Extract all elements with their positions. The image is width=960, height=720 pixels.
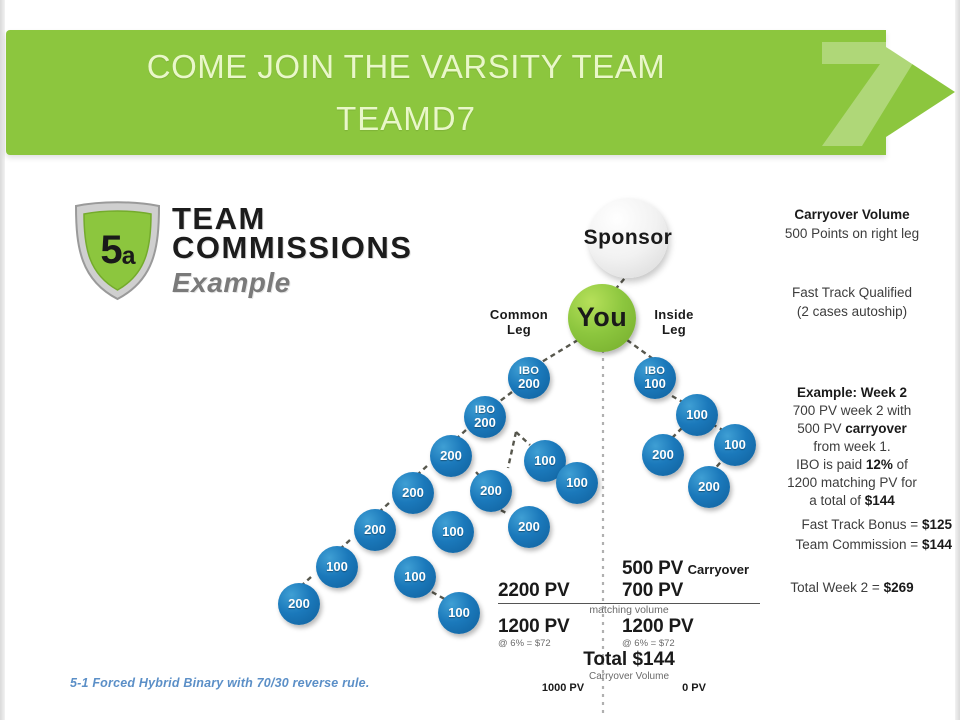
- pv-carryover-top-row: 500 PV Carryover: [498, 558, 768, 580]
- left-edge-gutter: [0, 0, 5, 720]
- pv-summary: 500 PV Carryover 2200 PV 700 PV matching…: [498, 558, 768, 694]
- badge-digit: 5: [100, 228, 121, 273]
- banner-title-line2: TEAMD7: [336, 93, 476, 144]
- example-line-4: IBO is paid 12% of: [752, 456, 952, 474]
- bonus-breakdown: Fast Track Bonus = $125 Team Commission …: [740, 515, 952, 556]
- total-week-label: Total Week 2 =: [790, 580, 883, 595]
- title-line-team: TEAM: [172, 204, 532, 233]
- pv-carryover-volume-label: Carryover Volume: [498, 671, 760, 682]
- node-common-1-value: 200: [518, 377, 540, 390]
- pv-inside-rate: @ 6% = $72: [610, 638, 760, 649]
- fast-track-line1: Fast Track Qualified: [752, 283, 952, 302]
- example-line-6: a total of $144: [752, 492, 952, 510]
- pv-totals-row: 2200 PV 700 PV: [498, 580, 768, 602]
- node-common-4-value: 200: [402, 486, 424, 499]
- node-inside-5[interactable]: 200: [688, 466, 730, 508]
- carryover-volume-note: Carryover Volume 500 Points on right leg: [752, 205, 952, 243]
- example-line-3: from week 1.: [752, 438, 952, 456]
- title-line-example: Example: [172, 267, 532, 299]
- inside-leg-label-line1: Inside: [644, 308, 704, 323]
- node-common-9[interactable]: 100: [556, 462, 598, 504]
- pv-matching-label: matching volume: [498, 604, 760, 616]
- example-line-4a: IBO is paid: [796, 457, 866, 472]
- example-week2-note: Example: Week 2 700 PV week 2 with 500 P…: [752, 384, 952, 510]
- node-inside-2[interactable]: 100: [676, 394, 718, 436]
- node-common-3-value: 200: [440, 449, 462, 462]
- node-common-2-value: 200: [474, 416, 496, 429]
- banner-title-line1: COME JOIN THE VARSITY TEAM: [147, 41, 665, 92]
- node-common-9-value: 100: [566, 476, 588, 489]
- node-common-7-value: 200: [288, 597, 310, 610]
- carryover-detail: 500 Points on right leg: [752, 224, 952, 243]
- node-common-10[interactable]: 200: [470, 470, 512, 512]
- pv-carryover-inside: 0 PV: [628, 682, 760, 694]
- node-common-4[interactable]: 200: [392, 472, 434, 514]
- node-common-12-value: 200: [518, 520, 540, 533]
- team-commission-row: Team Commission = $144: [740, 535, 952, 555]
- page-title: TEAM COMMISSIONS Example: [172, 204, 532, 299]
- node-common-11[interactable]: 100: [432, 511, 474, 553]
- node-common-8-value: 100: [534, 454, 556, 467]
- node-common-13-value: 100: [404, 570, 426, 583]
- common-leg-label-line1: Common: [478, 308, 560, 323]
- example-line-5: 1200 matching PV for: [752, 474, 952, 492]
- pv-common-matching: 1200 PV: [498, 616, 610, 638]
- pv-carryover-top: 500 PV Carryover: [610, 558, 760, 580]
- node-common-12[interactable]: 200: [508, 506, 550, 548]
- node-sponsor[interactable]: Sponsor: [588, 198, 668, 278]
- slide-canvas: COME JOIN THE VARSITY TEAM TEAMD7 5a TEA…: [0, 0, 960, 720]
- example-line-6b: $144: [865, 493, 895, 508]
- example-line-2a: 500 PV: [797, 421, 845, 436]
- inside-leg-label-line2: Leg: [644, 323, 704, 338]
- inside-leg-label: Inside Leg: [644, 308, 704, 337]
- node-common-7[interactable]: 200: [278, 583, 320, 625]
- pv-carryover-common: 1000 PV: [498, 682, 628, 694]
- common-leg-label-line2: Leg: [478, 323, 560, 338]
- node-you[interactable]: You: [568, 284, 636, 352]
- fast-track-line2: (2 cases autoship): [752, 302, 952, 321]
- title-banner: COME JOIN THE VARSITY TEAM TEAMD7: [6, 30, 960, 155]
- pv-carryover-top-value: 500 PV: [622, 558, 683, 579]
- node-common-2[interactable]: IBO 200: [464, 396, 506, 438]
- node-inside-3[interactable]: 200: [642, 434, 684, 476]
- node-common-3[interactable]: 200: [430, 435, 472, 477]
- node-common-11-value: 100: [442, 525, 464, 538]
- total-week-value: $269: [884, 580, 914, 595]
- footer-note: 5-1 Forced Hybrid Binary with 70/30 reve…: [70, 676, 370, 690]
- pv-carryover-volume-row: 1000 PV 0 PV: [498, 682, 760, 694]
- fast-track-bonus-label: Fast Track Bonus =: [802, 517, 922, 532]
- step-badge-number: 5a: [70, 198, 165, 303]
- node-common-6[interactable]: 100: [316, 546, 358, 588]
- example-title: Example: Week 2: [752, 384, 952, 402]
- node-common-10-value: 200: [480, 484, 502, 497]
- example-line-1: 700 PV week 2 with: [752, 402, 952, 420]
- node-inside-4-value: 100: [724, 438, 746, 451]
- banner-arrow-point: [860, 30, 955, 154]
- team-commission-value: $144: [922, 537, 952, 552]
- fast-track-bonus-value: $125: [922, 517, 952, 532]
- node-common-1[interactable]: IBO 200: [508, 357, 550, 399]
- title-line-commissions: COMMISSIONS: [172, 233, 532, 262]
- common-leg-label: Common Leg: [478, 308, 560, 337]
- pv-matching-row: 1200 PV 1200 PV: [498, 616, 768, 638]
- node-inside-3-value: 200: [652, 448, 674, 461]
- example-line-4c: of: [893, 457, 908, 472]
- example-line-4b: 12%: [866, 457, 893, 472]
- step-badge: 5a: [70, 198, 165, 303]
- pv-rate-row: @ 6% = $72 @ 6% = $72: [498, 638, 768, 649]
- badge-suffix: a: [122, 242, 135, 271]
- pv-total-line: Total $144: [498, 649, 760, 671]
- node-common-14-value: 100: [448, 606, 470, 619]
- node-common-6-value: 100: [326, 560, 348, 573]
- example-line-2: 500 PV carryover: [752, 420, 952, 438]
- fast-track-bonus-row: Fast Track Bonus = $125: [740, 515, 952, 535]
- team-commission-label: Team Commission =: [796, 537, 922, 552]
- banner-title: COME JOIN THE VARSITY TEAM TEAMD7: [6, 30, 806, 155]
- pv-common-rate: @ 6% = $72: [498, 638, 610, 649]
- example-line-6a: a total of: [809, 493, 865, 508]
- pv-common-total: 2200 PV: [498, 580, 610, 602]
- pv-inside-matching: 1200 PV: [610, 616, 760, 638]
- example-line-2b: carryover: [845, 421, 907, 436]
- carryover-title: Carryover Volume: [752, 205, 952, 224]
- node-inside-1-value: 100: [644, 377, 666, 390]
- node-common-5-value: 200: [364, 523, 386, 536]
- node-inside-5-value: 200: [698, 480, 720, 493]
- node-common-14[interactable]: 100: [438, 592, 480, 634]
- node-common-13[interactable]: 100: [394, 556, 436, 598]
- node-inside-4[interactable]: 100: [714, 424, 756, 466]
- pv-inside-total: 700 PV: [610, 580, 760, 602]
- pv-carryover-top-tag: Carryover: [688, 562, 749, 577]
- node-inside-1[interactable]: IBO 100: [634, 357, 676, 399]
- fast-track-qualified-note: Fast Track Qualified (2 cases autoship): [752, 283, 952, 321]
- node-sponsor-label: Sponsor: [584, 227, 673, 248]
- node-common-5[interactable]: 200: [354, 509, 396, 551]
- total-week2-row: Total Week 2 = $269: [752, 580, 952, 595]
- node-you-label: You: [577, 304, 628, 332]
- node-inside-2-value: 100: [686, 408, 708, 421]
